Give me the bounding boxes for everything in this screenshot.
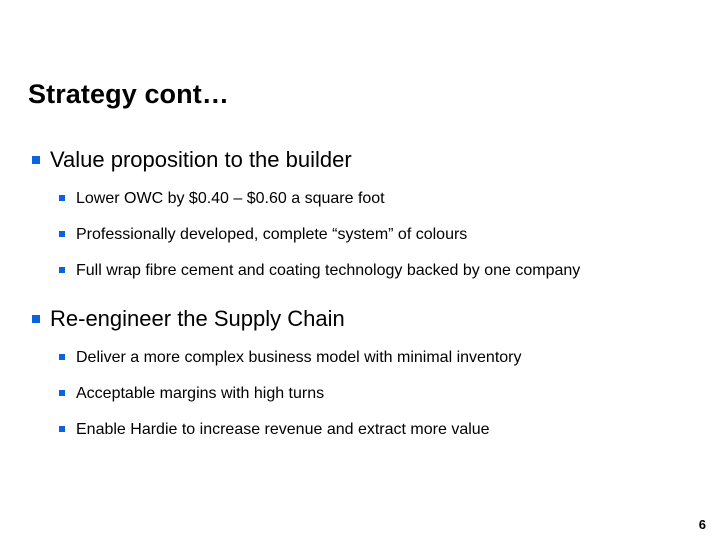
bullet-level2-label: Acceptable margins with high turns [76, 385, 324, 402]
bullet-level2-label: Enable Hardie to increase revenue and ex… [76, 421, 490, 438]
bullet-group-value-proposition: Value proposition to the builder Lower O… [28, 146, 692, 281]
square-bullet-icon [59, 267, 65, 273]
bullet-level1-value-proposition: Value proposition to the builder [28, 146, 692, 174]
square-bullet-icon [32, 156, 40, 164]
square-bullet-icon [32, 315, 40, 323]
bullet-level2-professionally-developed: Professionally developed, complete “syst… [28, 224, 692, 245]
bullet-level2-label: Deliver a more complex business model wi… [76, 349, 522, 366]
bullet-level2-deliver-model: Deliver a more complex business model wi… [28, 347, 692, 368]
bullet-group-supply-chain: Re-engineer the Supply Chain Deliver a m… [28, 305, 692, 440]
bullet-level2-label: Full wrap fibre cement and coating techn… [76, 262, 580, 279]
bullet-level2-label: Lower OWC by $0.40 – $0.60 a square foot [76, 190, 385, 207]
page-number: 6 [699, 518, 706, 532]
bullet-level2-enable-hardie: Enable Hardie to increase revenue and ex… [28, 419, 692, 440]
bullet-level1-re-engineer: Re-engineer the Supply Chain [28, 305, 692, 333]
square-bullet-icon [59, 195, 65, 201]
square-bullet-icon [59, 390, 65, 396]
bullet-level2-label: Professionally developed, complete “syst… [76, 226, 467, 243]
square-bullet-icon [59, 426, 65, 432]
bullet-level1-label: Value proposition to the builder [50, 147, 352, 172]
square-bullet-icon [59, 354, 65, 360]
square-bullet-icon [59, 231, 65, 237]
bullet-level2-lower-owc: Lower OWC by $0.40 – $0.60 a square foot [28, 188, 692, 209]
bullet-level2-acceptable-margins: Acceptable margins with high turns [28, 383, 692, 404]
slide-body: Value proposition to the builder Lower O… [28, 146, 692, 440]
bullet-level2-full-wrap: Full wrap fibre cement and coating techn… [28, 260, 692, 281]
slide-canvas: Strategy cont… Value proposition to the … [0, 0, 720, 540]
bullet-level1-label: Re-engineer the Supply Chain [50, 306, 345, 331]
page-title: Strategy cont… [28, 78, 229, 110]
